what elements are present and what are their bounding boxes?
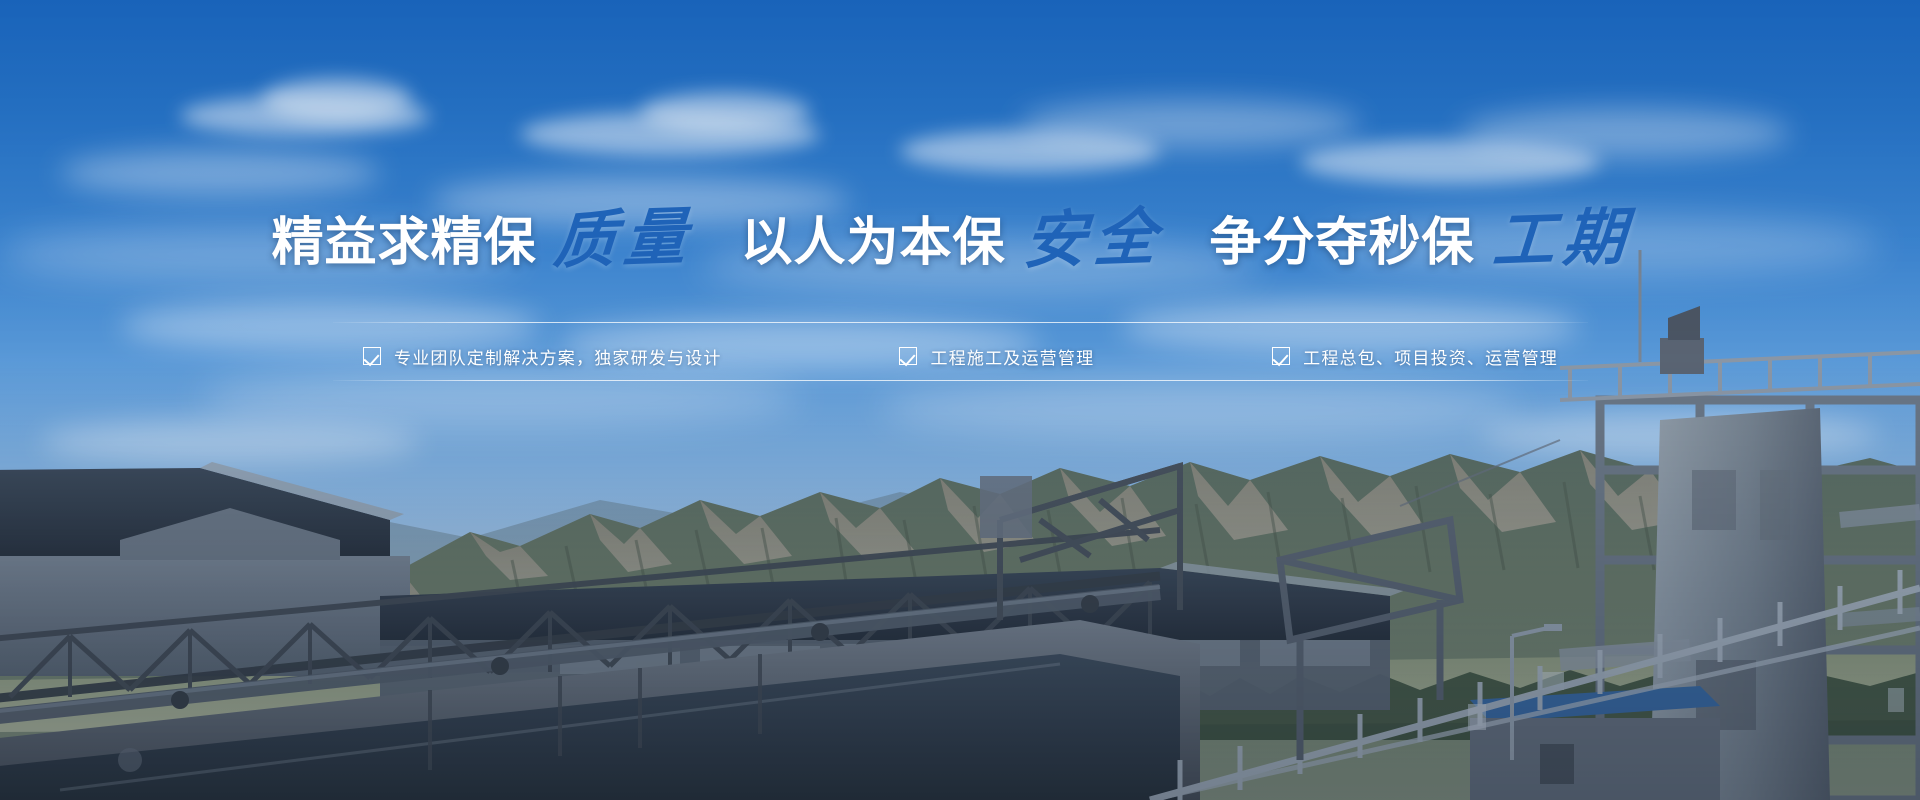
- headline-segment-1: 精益求精保 质量: [271, 208, 710, 270]
- headline-segment-3: 争分夺秒保 工期: [1210, 208, 1649, 270]
- banner-text-overlay: 精益求精保 质量 以人为本保 安全 争分夺秒保 工期 专业团队定制解决方案，独家…: [0, 0, 1920, 800]
- headline: 精益求精保 质量 以人为本保 安全 争分夺秒保 工期: [0, 208, 1920, 270]
- feature-item-3: 工程总包、项目投资、运营管理: [1272, 344, 1558, 369]
- headline-plain-2: 以人为本保: [740, 217, 1005, 269]
- checkbox-checked-icon: [1272, 347, 1290, 365]
- headline-plain-1: 精益求精保: [271, 217, 536, 269]
- hero-banner: 精益求精保 质量 以人为本保 安全 争分夺秒保 工期 专业团队定制解决方案，独家…: [0, 0, 1920, 800]
- headline-accent-1: 质量: [552, 206, 697, 273]
- headline-accent-2: 安全: [1021, 206, 1166, 273]
- headline-plain-3: 争分夺秒保: [1210, 217, 1475, 269]
- feature-item-2: 工程施工及运营管理: [899, 344, 1094, 369]
- headline-accent-3: 工期: [1490, 206, 1635, 273]
- checkbox-checked-icon: [899, 347, 917, 365]
- feature-item-1: 专业团队定制解决方案，独家研发与设计: [363, 344, 722, 369]
- feature-list: 专业团队定制解决方案，独家研发与设计 工程施工及运营管理 工程总包、项目投资、运…: [333, 332, 1588, 380]
- divider-bottom: [333, 380, 1588, 381]
- feature-label-3: 工程总包、项目投资、运营管理: [1303, 344, 1558, 369]
- feature-label-1: 专业团队定制解决方案，独家研发与设计: [394, 344, 722, 369]
- checkbox-checked-icon: [363, 347, 381, 365]
- headline-segment-2: 以人为本保 安全: [740, 208, 1179, 270]
- divider-top: [333, 322, 1588, 323]
- feature-label-2: 工程施工及运营管理: [930, 344, 1094, 369]
